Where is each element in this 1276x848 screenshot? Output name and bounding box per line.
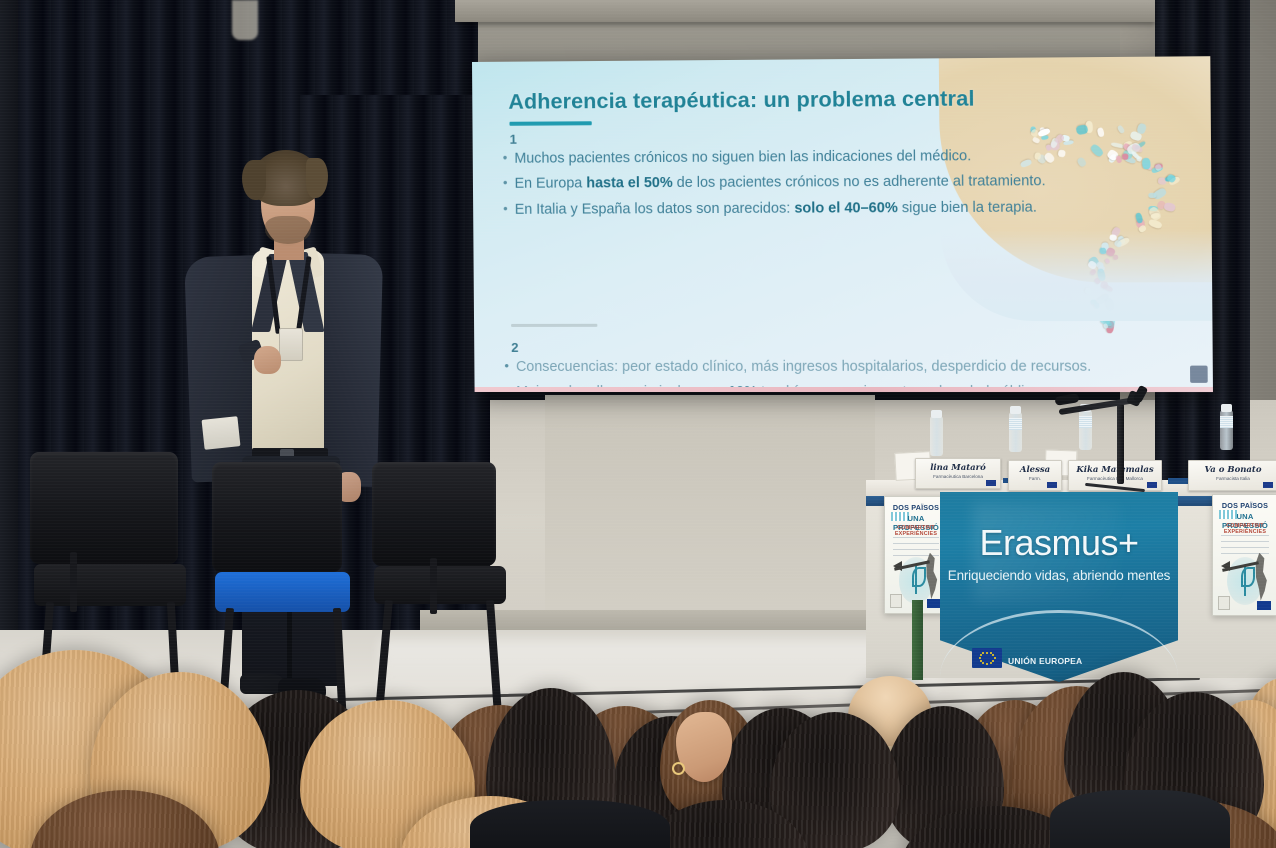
nameplate-eu-flag xyxy=(1047,482,1057,488)
nameplate-subtitle: Farm. xyxy=(1009,476,1061,481)
chair-seat xyxy=(215,572,350,612)
presenter-hair-side-left xyxy=(242,160,266,200)
bottle-label xyxy=(1079,416,1092,428)
presenter-hand-left xyxy=(254,346,281,374)
slide-title: Adherencia terapéutica: un problema cent… xyxy=(508,85,1118,114)
poster-left: DOS PAÏSOS UNA PROFESSIÓ COMPARTINT EXPE… xyxy=(884,496,948,614)
poster-arrow-head xyxy=(1221,561,1230,571)
eu-flag-stars xyxy=(972,648,1002,668)
slide-bullet: • Muchos pacientes crónicos no siguen bi… xyxy=(503,146,1154,168)
poster-caduceus-snake xyxy=(912,567,926,587)
chair-leg xyxy=(70,552,77,612)
bottle-cap xyxy=(1221,404,1232,412)
presenter-hair-side-right xyxy=(306,158,328,198)
presenter-badge xyxy=(279,328,303,361)
erasmus-banner: Erasmus+ Enriqueciendo vidas, abriendo m… xyxy=(940,492,1178,682)
poster-text-lines xyxy=(1221,535,1269,555)
audience-member-shoulders xyxy=(1050,790,1230,848)
slide-section-2-number: 2 xyxy=(511,340,518,355)
poster-eu-flag xyxy=(1257,601,1271,610)
bullet-marker: • xyxy=(503,175,508,193)
chair-backrest xyxy=(212,462,342,572)
nameplate-eu-flag xyxy=(986,480,996,486)
curtain-top-fitting xyxy=(232,0,258,40)
conference-photo-scene: Adherencia terapéutica: un problema cent… xyxy=(0,0,1276,848)
bottle-label xyxy=(1009,418,1022,430)
poster-right: DOS PAÏSOS UNA PROFESSIÓ COMPARTINT EXPE… xyxy=(1212,494,1276,616)
slide-bullet: • En Europa hasta el 50% de los paciente… xyxy=(503,172,1154,194)
nameplate-name: lina Mataró xyxy=(916,463,1000,473)
projection-screen-roller xyxy=(455,0,1155,22)
nameplate-subtitle: Farmacèutica Illes Mallorca xyxy=(1069,476,1161,481)
slide-photo-fade xyxy=(940,229,1213,321)
slide-title-underline xyxy=(509,121,591,126)
nameplate-name: Va o Bonato xyxy=(1189,465,1276,475)
bottle-cap xyxy=(931,410,942,418)
slide-bullets-group-1: • Muchos pacientes crónicos no siguen bi… xyxy=(503,146,1154,226)
slide-corner-mark xyxy=(1190,366,1208,383)
banner-brand: Erasmus+ xyxy=(940,522,1178,564)
microphone-stand xyxy=(1117,404,1124,484)
slide-footer-bar xyxy=(475,387,1213,392)
presenter-beard xyxy=(265,216,311,244)
presenter xyxy=(168,150,383,710)
earring xyxy=(672,762,685,775)
chair-backrest xyxy=(30,452,178,564)
bullet-emphasis: solo el 40–60% xyxy=(794,200,898,217)
poster-line-3: COMPARTINT EXPERIÈNCIES xyxy=(885,525,947,537)
slide-bullet: • En Italia y España los datos son parec… xyxy=(503,198,1154,219)
poster-arrow-head xyxy=(893,561,902,571)
chair-leg xyxy=(430,558,437,614)
bullet-text: En Europa xyxy=(514,176,586,192)
poster-logo xyxy=(1218,596,1230,610)
slide-bullet: • Consecuencias: peor estado clínico, má… xyxy=(504,357,1184,376)
nameplate: lina Mataró Farmacèutica Barcelona xyxy=(915,458,1001,489)
chair-seat xyxy=(374,566,506,604)
slide-section-1-number: 1 xyxy=(510,132,517,147)
bullet-marker: • xyxy=(503,150,508,168)
nameplate-eu-flag xyxy=(1263,482,1273,488)
bottle-cap xyxy=(1010,406,1021,414)
banner-support-pole xyxy=(912,600,923,680)
bullet-marker: • xyxy=(503,200,508,218)
nameplate: Va o Bonato Farmacista Italia xyxy=(1188,460,1276,491)
nameplate-subtitle: Farmacista Italia xyxy=(1189,476,1276,481)
bullet-text-after: de los pacientes crónicos no es adherent… xyxy=(673,173,1046,191)
banner-tagline: Enriqueciendo vidas, abriendo mentes xyxy=(940,568,1178,583)
poster-logo xyxy=(890,594,902,608)
slide-section-divider xyxy=(511,324,597,327)
water-bottle[interactable] xyxy=(930,416,943,456)
bullet-text: En Italia y España los datos son parecid… xyxy=(515,200,795,217)
nameplate: Alessa Farm. xyxy=(1008,460,1062,491)
nameplate-name: Alessa xyxy=(1009,465,1061,475)
poster-line-1: DOS PAÏSOS xyxy=(885,503,947,512)
nameplate-subtitle: Farmacèutica Barcelona xyxy=(916,474,1000,479)
nameplate-eu-flag xyxy=(1147,482,1157,488)
nameplate-name: Kika Matemalas xyxy=(1069,465,1161,475)
poster-eu-flag xyxy=(927,599,941,608)
banner-eu-label: UNIÓN EUROPEA xyxy=(1008,656,1082,666)
projection-screen: Adherencia terapéutica: un problema cent… xyxy=(472,56,1213,392)
presenter-pocket-square xyxy=(202,416,241,450)
audience-member-shoulders xyxy=(470,800,670,848)
bullet-text: Muchos pacientes crónicos no siguen bien… xyxy=(514,148,971,167)
poster-text-lines xyxy=(893,537,939,557)
presentation-slide: Adherencia terapéutica: un problema cent… xyxy=(472,56,1213,392)
bullet-emphasis: hasta el 50% xyxy=(586,175,673,191)
bullet-marker: • xyxy=(504,358,509,376)
poster-line-3: COMPARTINT EXPERIÈNCIES xyxy=(1213,523,1276,535)
bullet-text-after: sigue bien la terapia. xyxy=(898,199,1037,216)
bottle-label xyxy=(1220,416,1233,428)
bullet-text: Consecuencias: peor estado clínico, más … xyxy=(516,359,1091,375)
chair-seat xyxy=(34,564,186,606)
chair-backrest xyxy=(372,462,496,566)
poster-line-1: DOS PAÏSOS xyxy=(1213,501,1276,510)
